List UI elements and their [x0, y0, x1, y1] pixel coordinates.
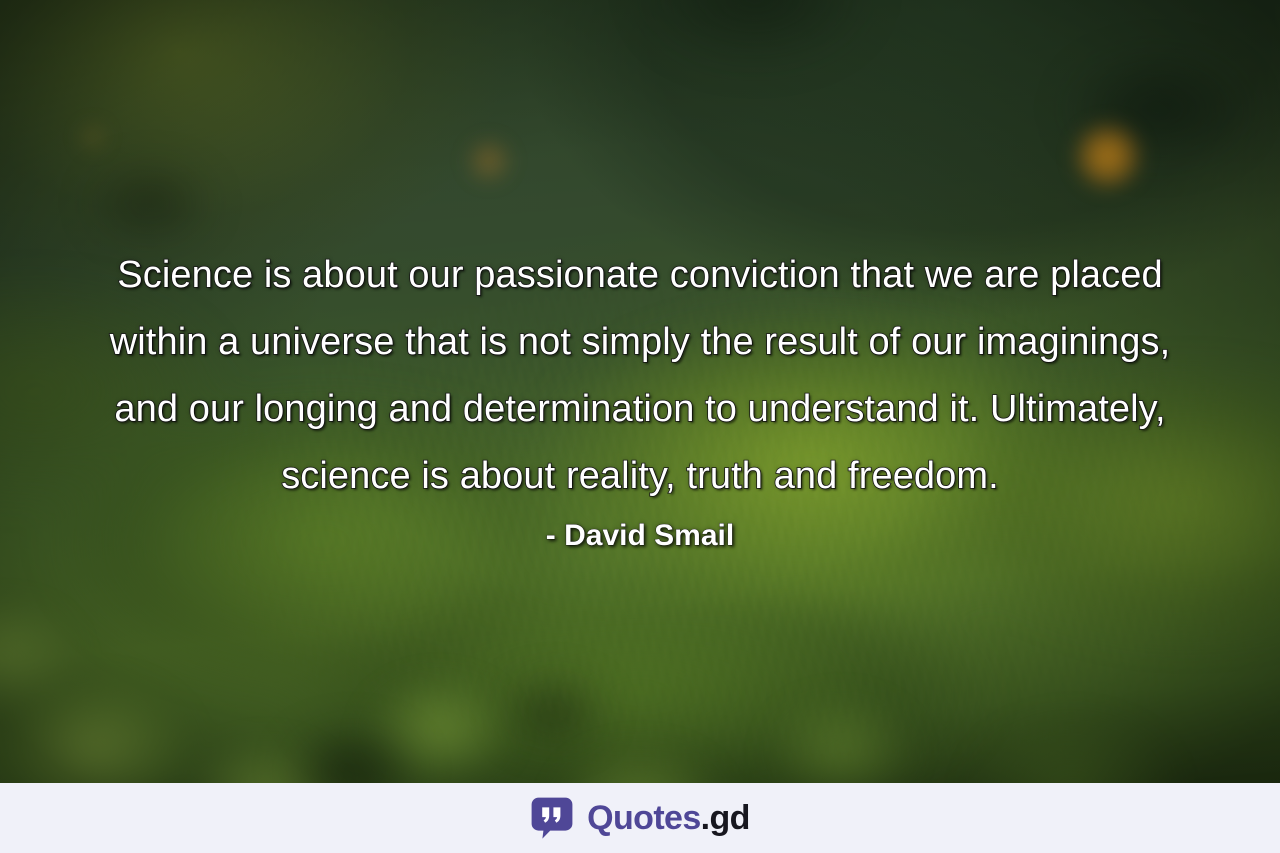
quote-author: - David Smail [546, 516, 734, 556]
quote-card: Science is about our passionate convicti… [0, 0, 1280, 853]
quote-bubble-icon [530, 796, 574, 840]
footer-bar: Quotes.gd [0, 783, 1280, 853]
brand-logo[interactable]: Quotes.gd [530, 796, 750, 840]
quote-text: Science is about our passionate convicti… [105, 242, 1175, 510]
brand-tld: .gd [701, 799, 750, 837]
quote-text-block: Science is about our passionate convicti… [0, 0, 1280, 783]
brand-wordmark: Quotes.gd [587, 801, 750, 835]
brand-name: Quotes [587, 799, 701, 837]
